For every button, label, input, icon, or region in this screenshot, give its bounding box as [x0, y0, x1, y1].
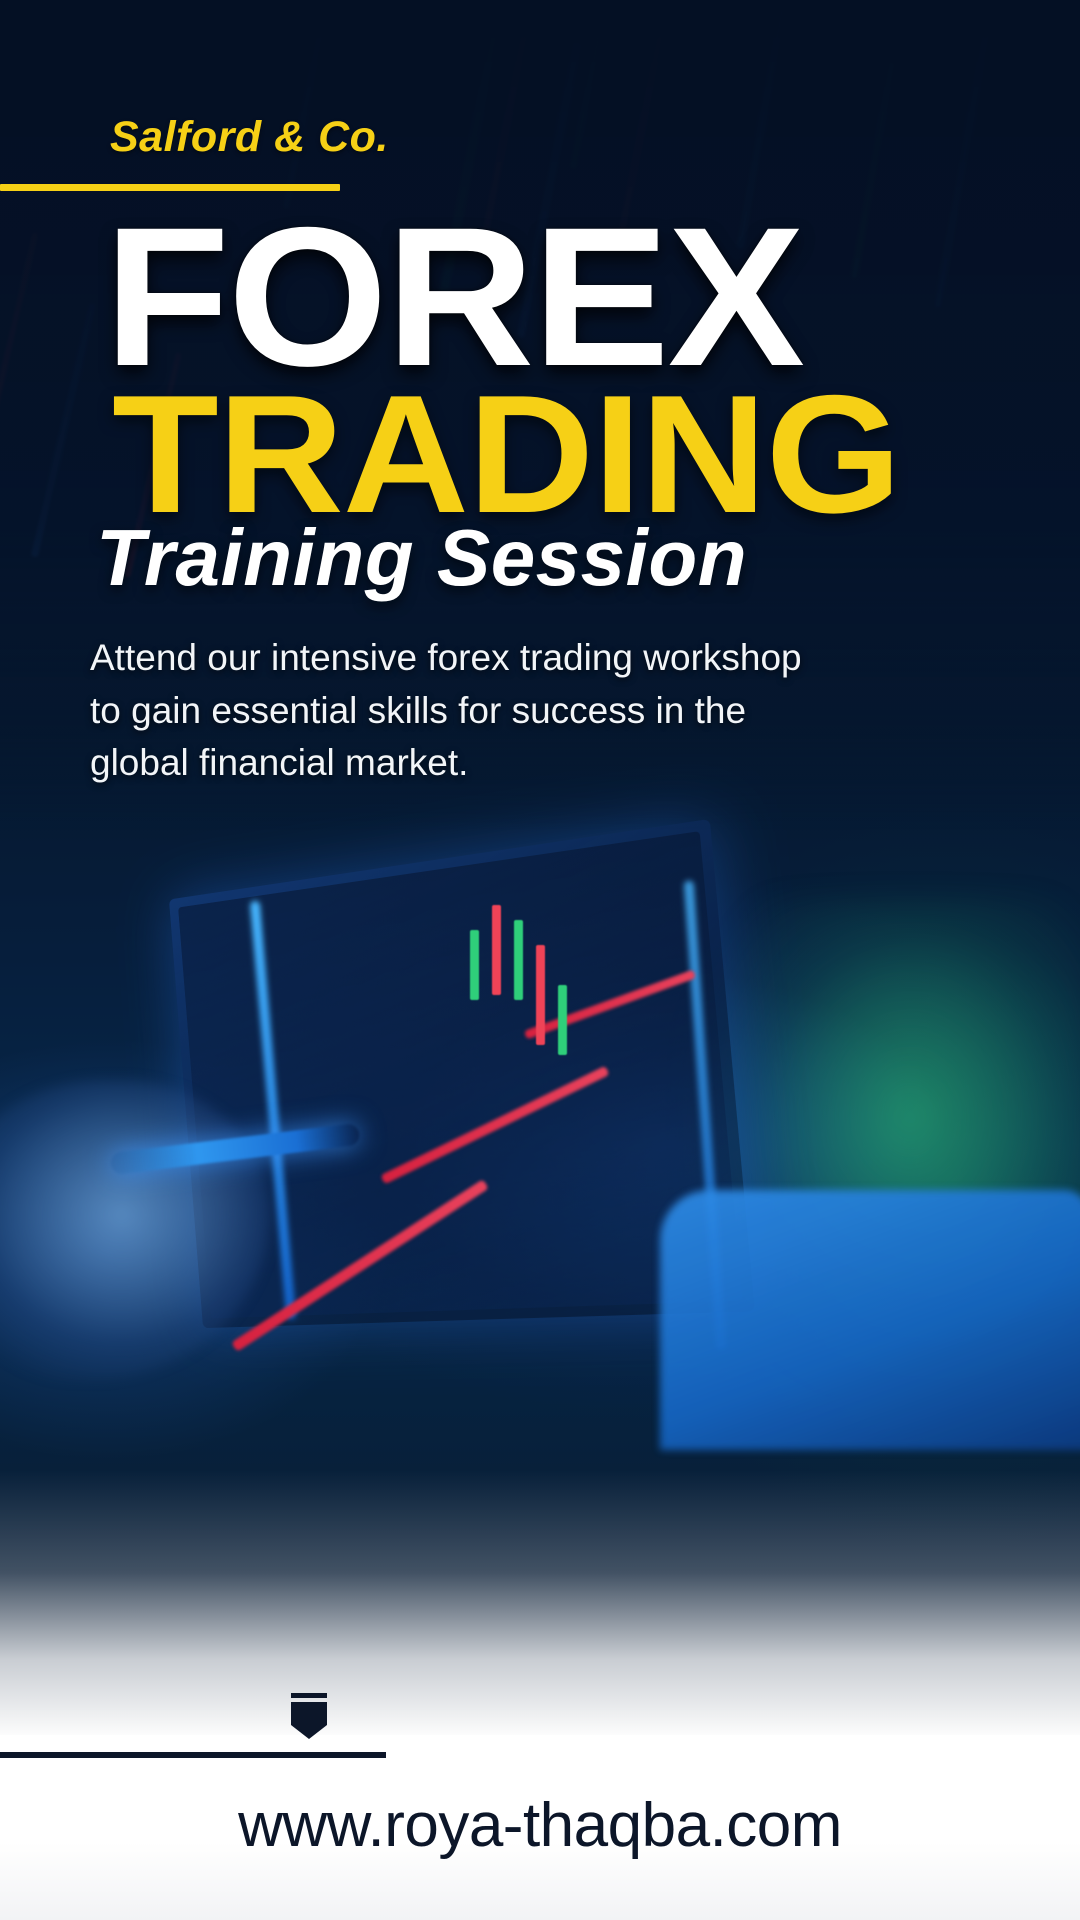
brand-name: Salford & Co.: [110, 113, 389, 162]
headline-subtitle: Training Session: [96, 518, 747, 598]
ribbon-cap: [291, 1693, 327, 1698]
footer-divider: [0, 1752, 386, 1758]
bookmark-ribbon-icon: [291, 1693, 327, 1739]
website-url[interactable]: www.roya-thaqba.com: [0, 1790, 1080, 1861]
poster-content: Salford & Co. FOREX TRADING Training Ses…: [0, 0, 1080, 1920]
description-paragraph: Attend our intensive forex trading works…: [90, 632, 810, 790]
poster-canvas: Salford & Co. FOREX TRADING Training Ses…: [0, 0, 1080, 1920]
ribbon-body: [291, 1702, 327, 1739]
